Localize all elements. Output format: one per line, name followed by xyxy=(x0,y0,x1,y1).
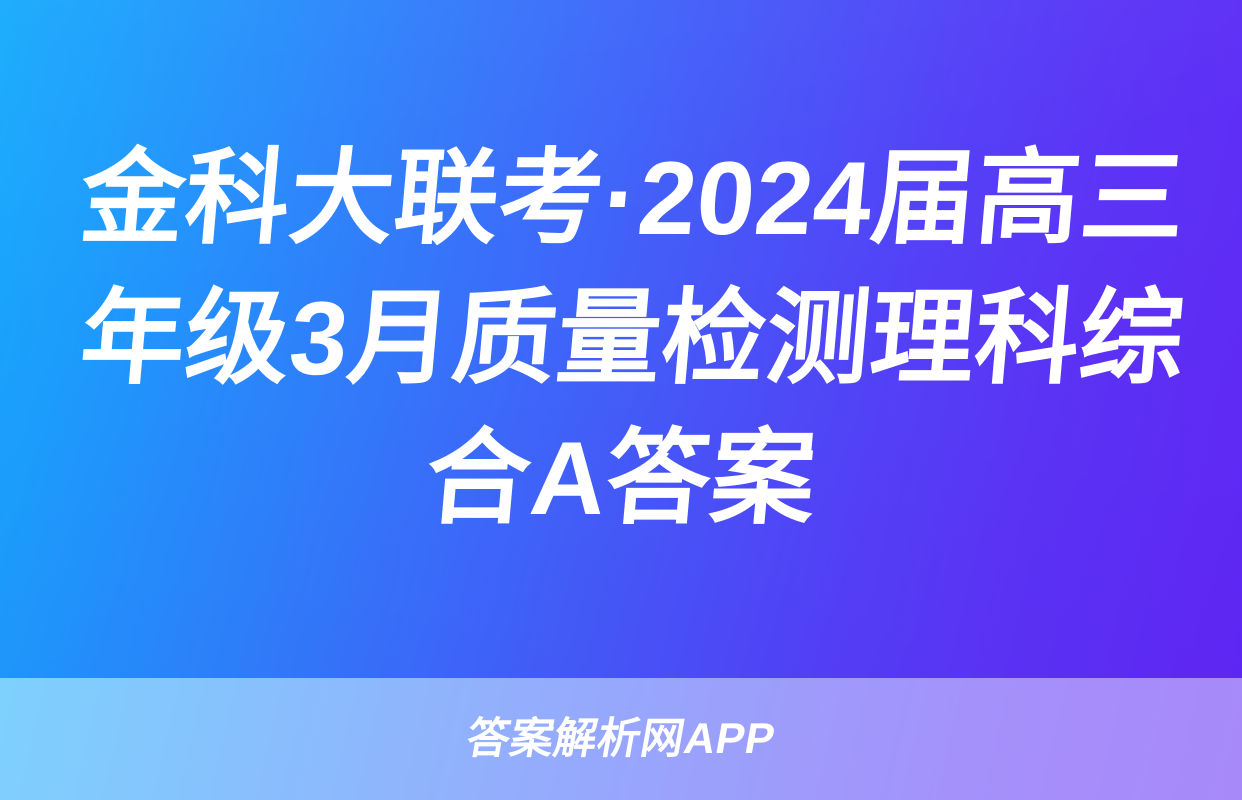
poster-title-line-1: 金科大联考·2024届高三 xyxy=(75,129,1167,269)
poster-canvas: 金科大联考·2024届高三 年级3月质量检测理科综 合A答案 答案解析网APP xyxy=(0,0,1242,800)
hero-gradient-banner: 金科大联考·2024届高三 年级3月质量检测理科综 合A答案 xyxy=(0,0,1242,678)
poster-title-line-2: 年级3月质量检测理科综 xyxy=(75,269,1167,409)
watermark-app-label: 答案解析网APP xyxy=(463,718,778,761)
poster-title-line-3: 合A答案 xyxy=(75,409,1167,549)
poster-title-block: 金科大联考·2024届高三 年级3月质量检测理科综 合A答案 xyxy=(81,129,1161,549)
watermark-band: 答案解析网APP xyxy=(0,678,1242,800)
